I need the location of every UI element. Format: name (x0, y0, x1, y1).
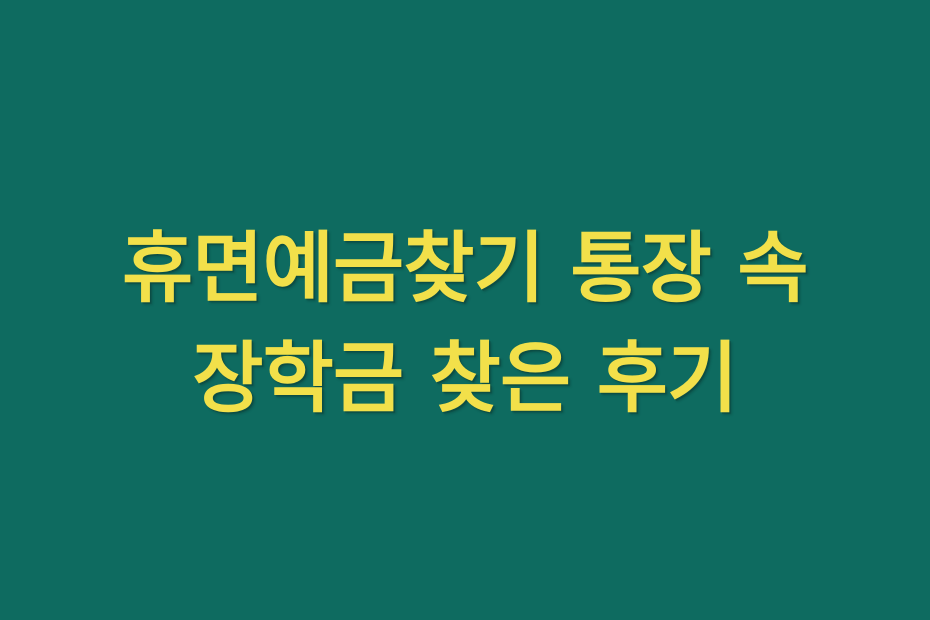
title-line-2: 장학금 찾은 후기 (0, 332, 930, 428)
title-text-block: 휴면예금찾기 통장 속 장학금 찾은 후기 (0, 222, 930, 428)
title-card: 휴면예금찾기 통장 속 장학금 찾은 후기 (0, 0, 930, 620)
title-line-1: 휴면예금찾기 통장 속 (0, 222, 930, 318)
